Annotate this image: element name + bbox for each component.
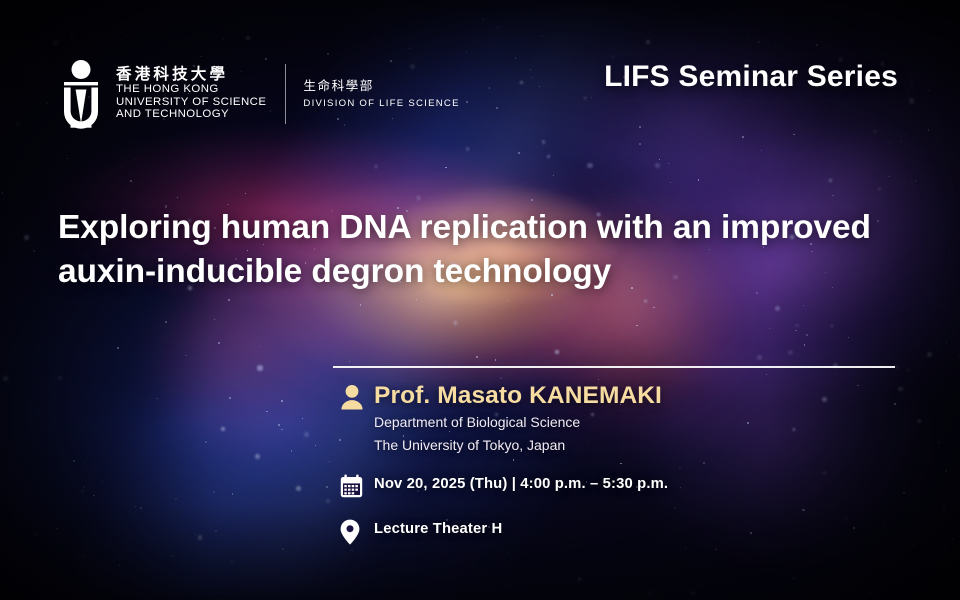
venue-row: Lecture Theater H: [340, 517, 920, 545]
hkust-wordmark: 香港科技大學 THE HONG KONG UNIVERSITY OF SCIEN…: [116, 67, 266, 121]
seminar-poster: 香港科技大學 THE HONG KONG UNIVERSITY OF SCIEN…: [0, 0, 960, 600]
speaker-affiliation-line2: The University of Tokyo, Japan: [374, 436, 920, 456]
datetime-info: Nov 20, 2025 (Thu) | 4:00 p.m. – 5:30 p.…: [374, 472, 920, 494]
seminar-details: Prof. Masato KANEMAKI Department of Biol…: [340, 382, 920, 545]
speaker-name: Prof. Masato KANEMAKI: [374, 382, 920, 410]
venue-info: Lecture Theater H: [374, 517, 920, 539]
hkust-logo-lockup: 香港科技大學 THE HONG KONG UNIVERSITY OF SCIEN…: [58, 56, 460, 132]
seminar-title: Exploring human DNA replication with an …: [58, 206, 914, 292]
speaker-row: Prof. Masato KANEMAKI Department of Biol…: [340, 382, 920, 456]
series-title: LIFS Seminar Series: [604, 60, 898, 94]
hkust-logo-icon: [58, 58, 104, 130]
speaker-divider: [333, 366, 895, 368]
institution-name-en-line1: THE HONG KONG: [116, 84, 266, 96]
institution-name-en-line3: AND TECHNOLOGY: [116, 109, 266, 121]
datetime-text: Nov 20, 2025 (Thu) | 4:00 p.m. – 5:30 p.…: [374, 472, 920, 494]
institution-name-en-line2: UNIVERSITY OF SCIENCE: [116, 97, 266, 109]
datetime-row: Nov 20, 2025 (Thu) | 4:00 p.m. – 5:30 p.…: [340, 472, 920, 498]
division-block: 生命科學部 DIVISION OF LIFE SCIENCE: [303, 79, 459, 109]
calendar-icon: [340, 472, 374, 498]
division-name-en: DIVISION OF LIFE SCIENCE: [303, 98, 459, 109]
speaker-affiliation-line1: Department of Biological Science: [374, 413, 920, 433]
poster-content: 香港科技大學 THE HONG KONG UNIVERSITY OF SCIEN…: [0, 0, 960, 600]
venue-text: Lecture Theater H: [374, 517, 920, 539]
institution-name-cn: 香港科技大學: [116, 67, 266, 83]
speaker-info: Prof. Masato KANEMAKI Department of Biol…: [374, 382, 920, 456]
location-pin-icon: [340, 517, 374, 545]
logo-separator-rule: [285, 64, 286, 124]
division-name-cn: 生命科學部: [303, 79, 459, 93]
person-icon: [340, 382, 374, 410]
